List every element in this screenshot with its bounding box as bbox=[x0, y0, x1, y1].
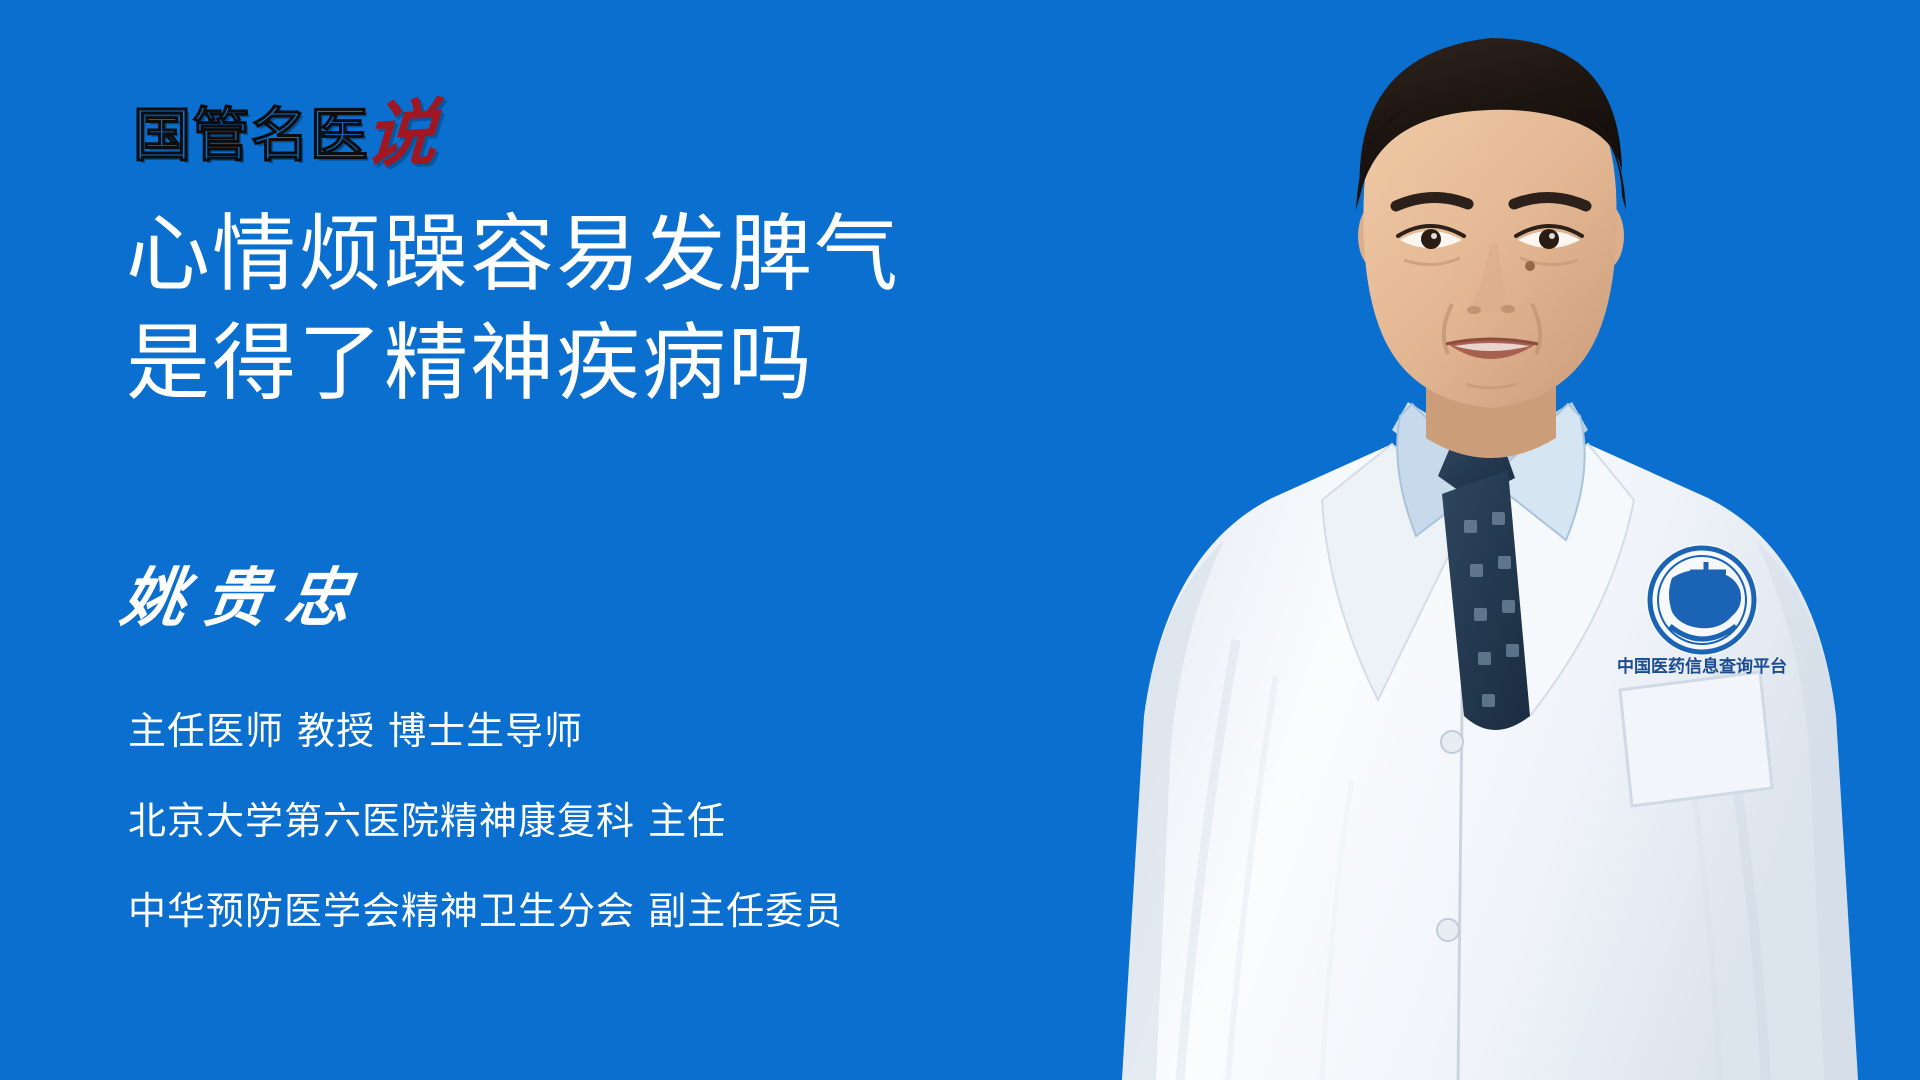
credential-line-3: 中华预防医学会精神卫生分会 副主任委员 bbox=[128, 892, 1028, 930]
credential-line-1: 主任医师 教授 博士生导师 bbox=[128, 712, 1028, 750]
doctor-portrait-photo: 中国医药信息查询平台 bbox=[1060, 0, 1920, 1080]
badge-caption: 中国医药信息查询平台 bbox=[1617, 656, 1787, 677]
program-logo-main-text: 国管名医 bbox=[133, 106, 369, 164]
portrait-illustration: 中国医药信息查询平台 bbox=[1060, 0, 1920, 1080]
poster-canvas: 国管名医 说 心情烦躁容易发脾气 是得了精神疾病吗 姚贵忠 主任医师 教授 博士… bbox=[0, 0, 1920, 1080]
credential-line-2: 北京大学第六医院精神康复科 主任 bbox=[128, 802, 1028, 840]
left-text-column: 国管名医 说 心情烦躁容易发脾气 是得了精神疾病吗 姚贵忠 主任医师 教授 博士… bbox=[0, 0, 1120, 1080]
coat-button-1 bbox=[1441, 731, 1463, 753]
program-logo-accent-text: 说 bbox=[363, 98, 439, 170]
facial-mole bbox=[1525, 261, 1535, 271]
title-line-2: 是得了精神疾病吗 bbox=[126, 309, 1086, 418]
title-line-1: 心情烦躁容易发脾气 bbox=[126, 200, 1086, 309]
face bbox=[1356, 38, 1626, 408]
doctor-name: 姚贵忠 bbox=[118, 567, 373, 631]
doctor-credentials: 主任医师 教授 博士生导师 北京大学第六医院精神康复科 主任 中华预防医学会精神… bbox=[128, 712, 1028, 930]
program-logo: 国管名医 说 bbox=[133, 92, 435, 164]
coat-chest-pocket bbox=[1620, 672, 1772, 806]
coat-button-2 bbox=[1437, 919, 1459, 941]
page-title: 心情烦躁容易发脾气 是得了精神疾病吗 bbox=[126, 200, 1086, 418]
